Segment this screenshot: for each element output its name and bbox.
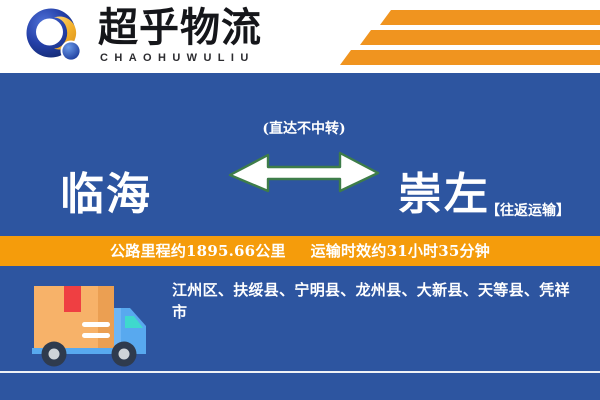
origin-city: 临海	[60, 171, 152, 219]
destination-city: 崇左	[398, 171, 490, 219]
bottom-divider	[0, 371, 600, 373]
logistics-route-banner: 超乎物流 CHAOHUWULIU 临海 (直达不中转) 【往返运输】 崇左 公路…	[0, 0, 600, 400]
stripe-1	[380, 10, 600, 25]
road-distance-text: 公路里程约1895.66公里	[110, 242, 286, 260]
brand-logo-block: 超乎物流 CHAOHUWULIU	[24, 6, 294, 68]
stripe-3	[340, 50, 600, 65]
brand-name-en: CHAOHUWULIU	[100, 52, 255, 64]
chaohu-logo-circle-crescent-icon	[24, 8, 86, 66]
direct-shipping-note: (直达不中转)	[228, 121, 380, 137]
brand-name-cn: 超乎物流	[98, 6, 262, 50]
service-area-panel: 江州区、扶绥县、宁明县、龙州县、大新县、天等县、凭祥市	[0, 266, 600, 400]
route-panel: 临海 (直达不中转) 【往返运输】 崇左	[0, 73, 600, 235]
banner-header: 超乎物流 CHAOHUWULIU	[0, 0, 600, 73]
service-area-list: 江州区、扶绥县、宁明县、龙州县、大新县、天等县、凭祥市	[172, 279, 576, 323]
distance-duration-bar: 公路里程约1895.66公里 运输时效约31小时35分钟	[0, 236, 600, 266]
stripe-2	[360, 30, 600, 45]
orange-speed-stripes-icon	[310, 0, 600, 73]
delivery-truck-icon	[26, 278, 154, 370]
route-arrow-group: (直达不中转) 【往返运输】	[228, 121, 380, 229]
transit-duration-text: 运输时效约31小时35分钟	[311, 242, 490, 260]
infobar-content: 公路里程约1895.66公里 运输时效约31小时35分钟	[110, 242, 490, 260]
bidirectional-arrow-icon	[228, 147, 380, 195]
